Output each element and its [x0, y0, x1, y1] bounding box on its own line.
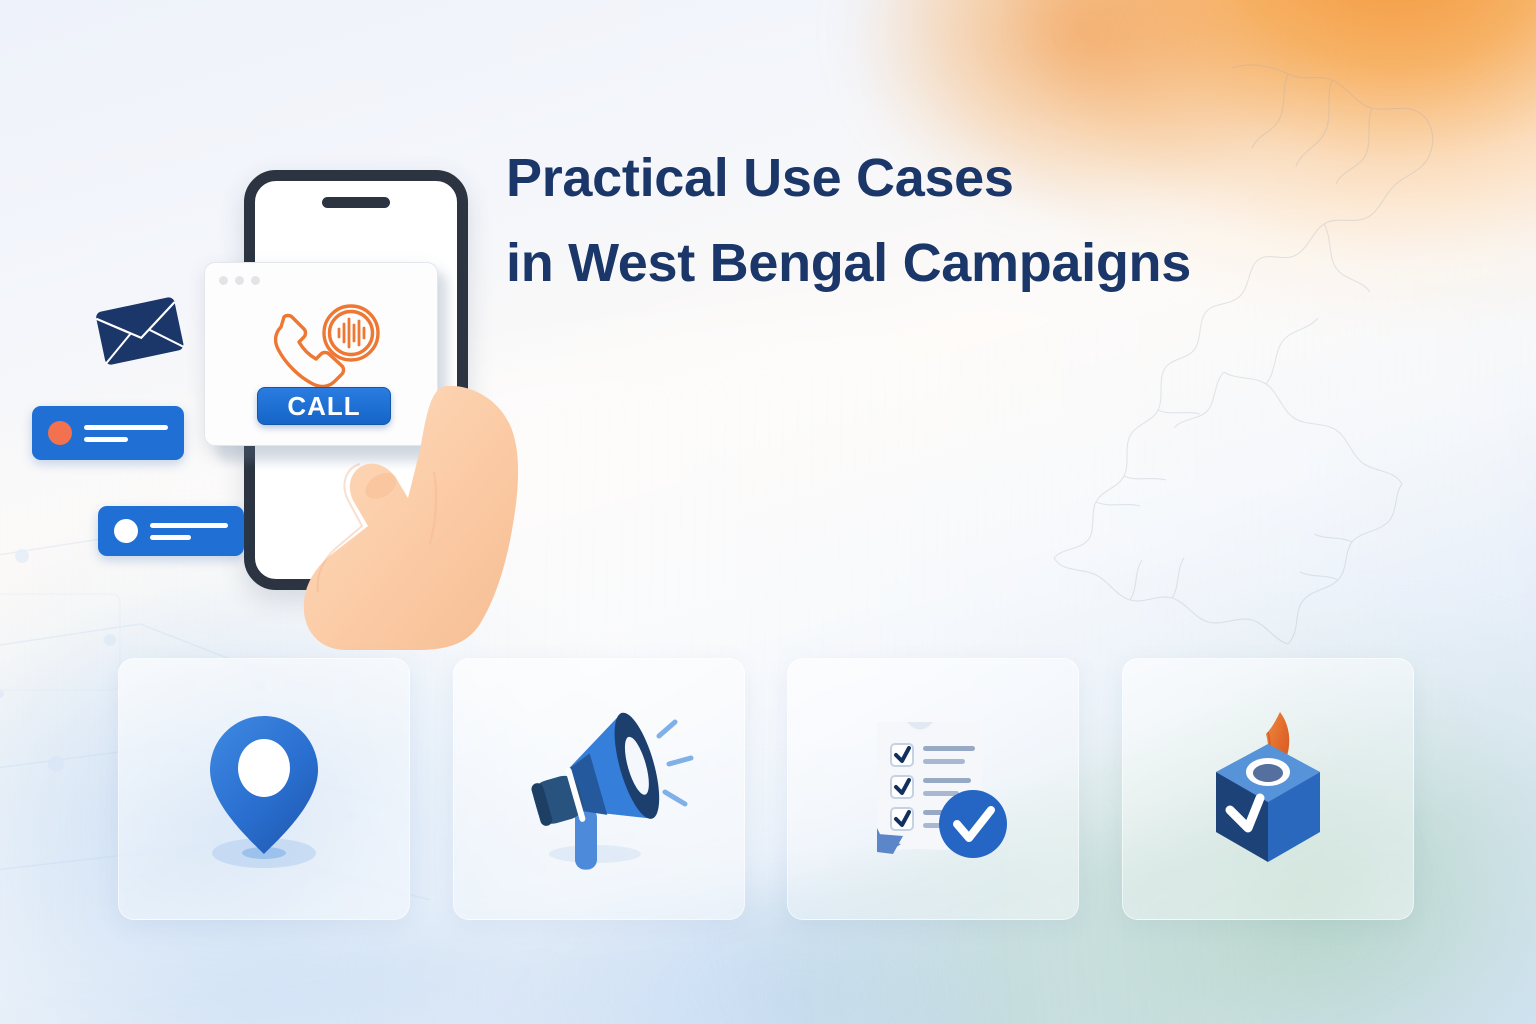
title-line-1: Practical Use Cases: [506, 148, 1014, 208]
phone-speaker: [322, 197, 390, 208]
feature-card-campaign-outreach[interactable]: [453, 658, 745, 920]
phone-illustration: CALL: [20, 150, 540, 650]
envelope-icon: [92, 290, 188, 374]
notification-line: [84, 437, 128, 442]
voice-call-icon: [263, 297, 385, 393]
notification-line: [150, 535, 191, 540]
notification-avatar-2: [114, 519, 138, 543]
window-dot-2: [235, 276, 244, 285]
hand-holding-phone: [250, 380, 550, 650]
ballot-box-icon: [1168, 694, 1368, 884]
feature-card-location-targeting[interactable]: [118, 658, 410, 920]
notification-avatar-1: [48, 421, 72, 445]
checklist-verified-icon: [833, 694, 1033, 884]
feature-card-ballot-voting[interactable]: [1122, 658, 1414, 920]
title-line-2: in West Bengal Campaigns: [506, 221, 1266, 306]
page-title: Practical Use Cases in West Bengal Campa…: [506, 136, 1266, 307]
poster-canvas: Practical Use Cases in West Bengal Campa…: [0, 0, 1536, 1024]
notification-pill-1: [32, 406, 184, 460]
location-pin-icon: [164, 694, 364, 884]
megaphone-icon: [499, 694, 699, 884]
window-dot-3: [251, 276, 260, 285]
window-dots: [219, 276, 260, 285]
notification-line: [84, 425, 168, 430]
notification-line: [150, 523, 228, 528]
window-dot-1: [219, 276, 228, 285]
feature-card-voter-checklist[interactable]: [787, 658, 1079, 920]
notification-pill-2: [98, 506, 244, 556]
notification-lines-1: [84, 425, 168, 442]
feature-card-row: [118, 658, 1414, 920]
notification-lines-2: [150, 523, 228, 540]
